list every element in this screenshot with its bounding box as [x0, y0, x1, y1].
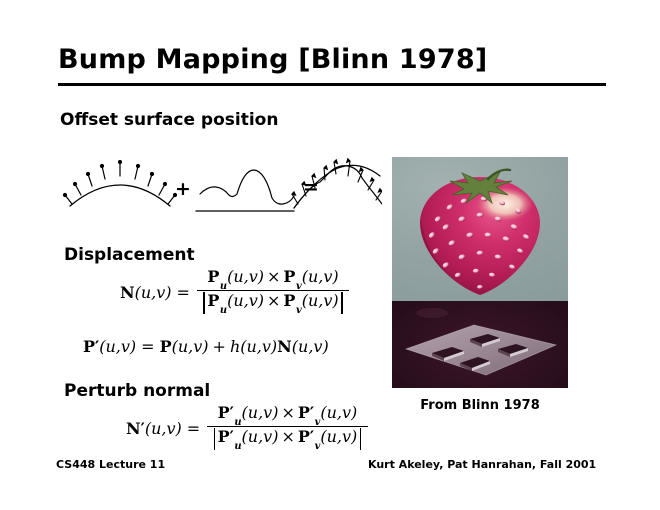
- eq-pos-lhs-vector: P: [83, 337, 95, 356]
- eq-pn-lhs-vector: N: [126, 419, 141, 438]
- num-p2-args: (u,v): [302, 267, 339, 286]
- pn-abs-bar-right: [360, 428, 361, 449]
- pn-num-cross: ×: [281, 403, 294, 422]
- num-p2: P: [283, 267, 295, 286]
- eq-pos-term3: N: [277, 337, 292, 356]
- eq-normal-lhs-args: (u,v): [135, 283, 172, 302]
- num-cross: ×: [267, 267, 280, 286]
- pn-num-p2-args: (u,v): [320, 403, 357, 422]
- pn-den-p1: P: [218, 427, 230, 446]
- eq-pn-denominator: P′u(u,v)×P′v(u,v): [207, 426, 368, 453]
- den-p1-args: (u,v): [227, 291, 264, 310]
- title-divider: [58, 83, 606, 86]
- eq-pos-plus: +: [213, 337, 226, 356]
- eq-pos-term2-args: (u,v): [240, 337, 277, 356]
- pn-den-cross: ×: [281, 427, 294, 446]
- eq-normal-equals: =: [177, 283, 190, 302]
- num-p1-args: (u,v): [227, 267, 264, 286]
- section-heading-perturb: Perturb normal: [64, 381, 210, 401]
- eq-pos-equals: =: [141, 337, 154, 356]
- pn-num-p2: P: [298, 403, 310, 422]
- pn-num-p2-sub: v: [315, 417, 321, 428]
- den-p2: P: [283, 291, 295, 310]
- den-p1-sub: u: [220, 305, 227, 316]
- section-heading-displacement: Displacement: [64, 245, 195, 265]
- den-p1: P: [207, 291, 219, 310]
- slide-canvas: Bump Mapping [Blinn 1978] Offset surface…: [0, 0, 660, 510]
- pn-den-p2-prime: ′: [310, 427, 314, 446]
- figure-caption: From Blinn 1978: [392, 398, 568, 413]
- num-p2-sub: v: [296, 281, 302, 292]
- pn-den-p1-args: (u,v): [242, 427, 279, 446]
- num-p1-sub: u: [220, 281, 227, 292]
- eq-normal-lhs-vector: N: [120, 283, 135, 302]
- eq-normal-numerator: Pu(u,v)×Pv(u,v): [203, 268, 342, 290]
- blinn-figure: [392, 157, 568, 388]
- figure-strawberry-panel: [392, 157, 568, 301]
- diagram-equals-operator: =: [303, 176, 319, 198]
- page-title: Bump Mapping [Blinn 1978]: [58, 44, 487, 75]
- eq-pn-numerator: P′u(u,v)×P′v(u,v): [214, 404, 362, 426]
- figure-plate-panel: [392, 301, 568, 388]
- footer-lecture-label: CS448 Lecture 11: [56, 458, 165, 471]
- diagram-plus-operator: +: [175, 178, 191, 200]
- footer-authors-label: Kurt Akeley, Pat Hanrahan, Fall 2001: [368, 458, 596, 471]
- eq-pos-term3-args: (u,v): [292, 337, 329, 356]
- eq-pos-lhs-args: (u,v): [99, 337, 136, 356]
- bump-mapping-diagram: + =: [62, 152, 382, 224]
- den-p2-args: (u,v): [302, 291, 339, 310]
- eq-pos-term1: P: [160, 337, 172, 356]
- eq-normal-fraction: Pu(u,v)×Pv(u,v) Pu(u,v)×Pv(u,v): [197, 268, 349, 318]
- num-p1: P: [207, 267, 219, 286]
- abs-bar-left: [203, 292, 204, 313]
- den-p2-sub: v: [296, 305, 302, 316]
- pn-den-p2-sub: v: [315, 441, 321, 452]
- eq-normal-denominator: Pu(u,v)×Pv(u,v): [197, 290, 349, 317]
- pn-den-p1-sub: u: [234, 441, 241, 452]
- pn-num-p2-prime: ′: [310, 403, 314, 422]
- equation-perturbed-normal: N′(u,v) = P′u(u,v)×P′v(u,v) P′u(u,v)×P′v…: [126, 404, 370, 454]
- den-cross: ×: [267, 291, 280, 310]
- equation-normal: N(u,v) = Pu(u,v)×Pv(u,v) Pu(u,v)×Pv(u,v): [120, 268, 351, 318]
- eq-pos-term2: h: [230, 337, 240, 356]
- equation-position: P′(u,v) = P(u,v) + h(u,v)N(u,v): [83, 337, 329, 356]
- pn-den-p2: P: [298, 427, 310, 446]
- pn-num-p1-sub: u: [234, 417, 241, 428]
- eq-pos-term1-args: (u,v): [172, 337, 209, 356]
- eq-pn-lhs-args: (u,v): [145, 419, 182, 438]
- pn-num-p1: P: [218, 403, 230, 422]
- eq-pn-equals: =: [187, 419, 200, 438]
- pn-den-p2-args: (u,v): [320, 427, 357, 446]
- section-heading-offset: Offset surface position: [60, 110, 278, 130]
- pn-num-p1-args: (u,v): [242, 403, 279, 422]
- pn-abs-bar-left: [214, 428, 215, 449]
- eq-pn-fraction: P′u(u,v)×P′v(u,v) P′u(u,v)×P′v(u,v): [207, 404, 368, 454]
- abs-bar-right: [341, 292, 342, 313]
